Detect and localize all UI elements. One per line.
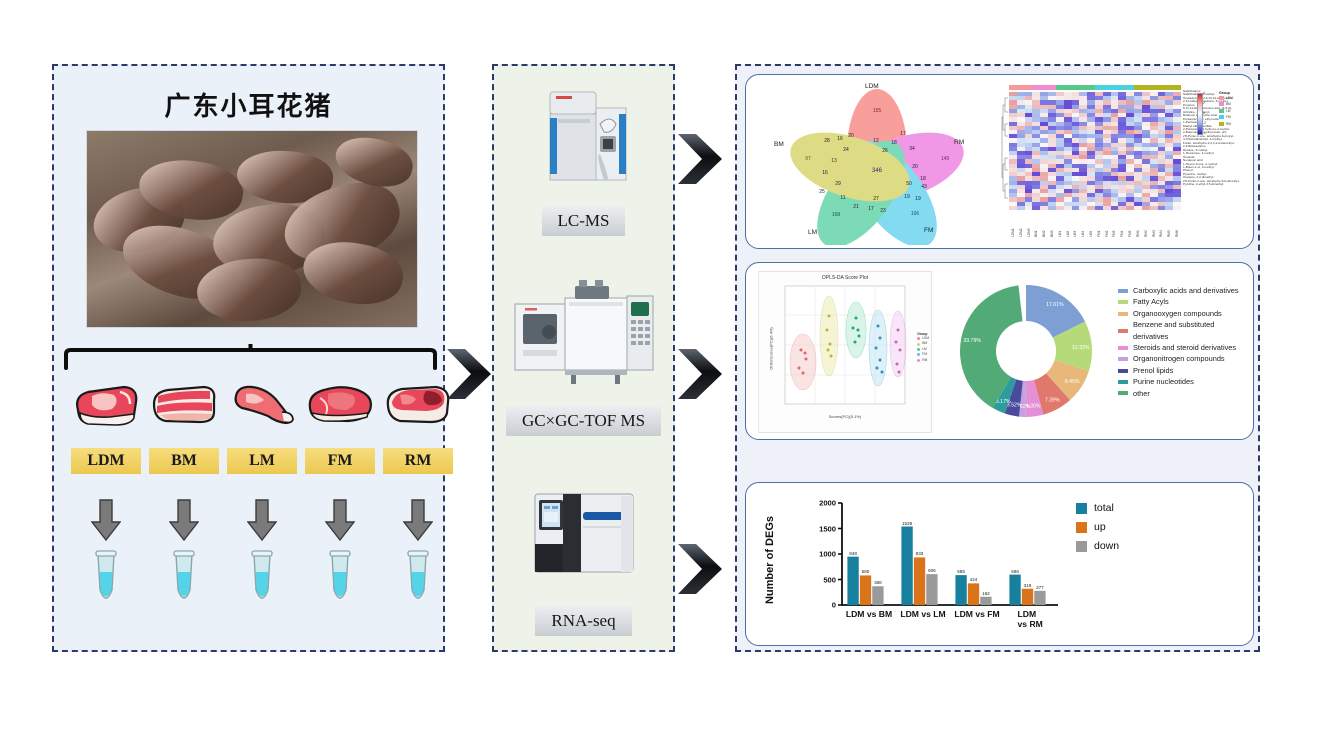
heatmap-column-label: RM1 xyxy=(1136,211,1140,237)
result-card-deg-bars: Number of DEGs 0500100015002000948580368… xyxy=(745,482,1254,646)
heatmap-cell xyxy=(1103,206,1111,210)
sample-label-lm: LM xyxy=(227,448,297,474)
sample-column-rm: RM xyxy=(379,382,457,610)
heatmap-legend-title: Group xyxy=(1219,91,1230,95)
venn-inner-count: 18 xyxy=(891,140,897,146)
heatmap-column-label: RM5 xyxy=(1167,211,1171,237)
venn-inner-count: 17 xyxy=(868,206,874,212)
flow-chevron-rnaseq-to-results xyxy=(672,540,730,598)
deg-bar-value: 1539 xyxy=(902,521,912,526)
flow-arrow-down-lm xyxy=(223,498,301,544)
venn-diagram: LDM RM FM LM BM 155 149 106 168 97 346 2… xyxy=(752,79,1002,245)
deg-bar-value: 933 xyxy=(916,551,924,556)
donut-legend-item: Organonitrogen compounds xyxy=(1118,353,1248,364)
rna-seq-sequencer-icon xyxy=(494,478,673,600)
heatmap-group-rm xyxy=(1134,85,1181,90)
deg-bar xyxy=(901,527,912,605)
deg-y-axis-label: Number of DEGs xyxy=(764,516,776,604)
heatmap-cell xyxy=(1064,206,1072,210)
meat-cut-leg-shank-icon xyxy=(223,382,301,442)
donut-legend-item: Benzene and substituted derivatives xyxy=(1118,319,1248,342)
instrument-label-lc-ms: LC-MS xyxy=(542,206,626,236)
heatmap-scale-tick: 2 xyxy=(1203,101,1205,105)
heatmap-cell xyxy=(1009,206,1017,210)
venn-inner-count: 23 xyxy=(880,208,886,214)
deg-bar-value: 596 xyxy=(1011,569,1019,574)
venn-inner-count: 19 xyxy=(915,196,921,202)
deg-legend: totalupdown xyxy=(1076,499,1119,556)
donut-legend-item: Prenol lipids xyxy=(1118,365,1248,376)
sample-tube-lm xyxy=(223,548,301,610)
sample-label-rm: RM xyxy=(383,448,453,474)
heatmap-scale-legend: 420-2-4GroupLDMBMLMFMRM xyxy=(1197,91,1249,141)
flow-chevron-lcms-to-results xyxy=(672,130,730,188)
heatmap-cell xyxy=(1032,206,1040,210)
venn-inner-count: 28 xyxy=(824,138,830,144)
heatmap-scale-tick: -2 xyxy=(1203,121,1206,125)
deg-bars-area: 0500100015002000948580368LDM vs BM153993… xyxy=(808,497,1058,623)
heatmap-column-label: FM5 xyxy=(1128,211,1132,237)
heatmap-column-label: FM4 xyxy=(1120,211,1124,237)
heatmap-column-label: BM2 xyxy=(1042,211,1046,237)
venn-label-fm: FM xyxy=(924,227,933,234)
heatmap-group-legend-item: LDM xyxy=(1219,96,1233,100)
opls-title: OPLS-DA Score Plot xyxy=(759,275,931,281)
sample-label-ldm: LDM xyxy=(71,448,141,474)
venn-label-rm: RM xyxy=(954,139,964,146)
page-title: 广东小耳花猪 xyxy=(54,86,443,123)
heatmap-group-lm xyxy=(1056,85,1095,90)
heatmap-column-label: LM5 xyxy=(1089,211,1093,237)
heatmap-cell xyxy=(1025,206,1033,210)
deg-legend-item: total xyxy=(1076,499,1119,518)
donut-legend-item: Carboxylic acids and derivatives xyxy=(1118,285,1248,296)
venn-inner-count: 12 xyxy=(873,138,879,144)
instrument-gcxgc-tof-ms: GC×GC-TOF MS xyxy=(494,278,673,436)
sample-bracket xyxy=(64,344,437,370)
heatmap-row-label: Pyridine, 2-ethyl-3,5-dimethyl- xyxy=(1183,183,1243,186)
heatmap: LDM1LDM2LDM3BM1BM2BM3LM1LM2LM3LM4LM5FM1F… xyxy=(1001,81,1251,243)
donut-slice-label: 17.61% xyxy=(1046,302,1064,308)
venn-inner-count: 43 xyxy=(921,184,927,190)
heatmap-column-label: FM2 xyxy=(1105,211,1109,237)
deg-bar xyxy=(860,575,871,605)
opls-legend-item: RM xyxy=(917,358,929,363)
heatmap-column-labels: LDM1LDM2LDM3BM1BM2BM3LM1LM2LM3LM4LM5FM1F… xyxy=(1009,211,1181,237)
flow-arrow-down-fm xyxy=(301,498,379,544)
heatmap-scale-tick: 4 xyxy=(1203,91,1205,95)
venn-inner-count: 20 xyxy=(848,133,854,139)
venn-count-ldm: 155 xyxy=(873,108,881,114)
deg-y-tick: 2000 xyxy=(808,499,836,508)
heatmap-cell xyxy=(1150,206,1158,210)
venn-label-lm: LM xyxy=(808,229,817,236)
flow-arrow-down-ldm xyxy=(67,498,145,544)
heatmap-cell xyxy=(1087,206,1095,210)
opls-x-axis-label: Scores(PC)(5.1%) xyxy=(759,414,931,419)
venn-count-bm: 97 xyxy=(805,156,811,162)
venn-inner-count: 21 xyxy=(853,204,859,210)
venn-inner-count: 20 xyxy=(912,164,918,170)
meat-cut-foreleg-steak-icon xyxy=(301,382,379,442)
heatmap-cell xyxy=(1017,206,1025,210)
donut-slice-label: 12.32% xyxy=(1072,345,1090,351)
deg-bar xyxy=(1022,589,1033,605)
deg-bar xyxy=(872,586,883,605)
venn-label-bm: BM xyxy=(774,141,784,148)
meat-cut-loin-block-icon xyxy=(67,382,145,442)
deg-bar xyxy=(914,557,925,605)
heatmap-column-label: LM4 xyxy=(1081,211,1085,237)
venn-inner-count: 25 xyxy=(819,189,825,195)
results-panel: LDM RM FM LM BM 155 149 106 168 97 346 2… xyxy=(735,64,1260,652)
donut-legend-item: Organooxygen compounds xyxy=(1118,308,1248,319)
heatmap-scale-tick: -4 xyxy=(1203,131,1206,135)
venn-count-center: 346 xyxy=(872,168,882,174)
deg-bar xyxy=(926,574,937,605)
deg-bar xyxy=(847,557,858,605)
heatmap-column-label: BM3 xyxy=(1050,211,1054,237)
donut-legend-item: other xyxy=(1118,388,1248,399)
heatmap-cell xyxy=(1173,206,1181,210)
deg-category-label: LDM vs FM xyxy=(954,609,999,619)
heatmap-cell xyxy=(1056,206,1064,210)
heatmap-column-label: FM3 xyxy=(1112,211,1116,237)
lc-ms-instrument-icon xyxy=(494,78,673,200)
heatmap-column-label: LDM2 xyxy=(1019,211,1023,237)
venn-inner-count: 34 xyxy=(909,146,915,152)
deg-bar-value: 580 xyxy=(862,569,870,574)
deg-y-tick: 1500 xyxy=(808,524,836,533)
flow-arrow-down-rm xyxy=(379,498,457,544)
pig-herd-photo xyxy=(86,130,418,328)
deg-bar-value: 606 xyxy=(928,568,936,573)
heatmap-dendrogram xyxy=(1001,92,1009,210)
heatmap-cells xyxy=(1009,92,1181,210)
deg-bar xyxy=(1034,591,1045,605)
donut-chart: 17.61%12.32%8.45%7.39%4.30%1.62%3.52%3.1… xyxy=(944,269,1109,433)
heatmap-cell xyxy=(1072,206,1080,210)
venn-count-rm: 149 xyxy=(941,156,949,162)
deg-bar-value: 277 xyxy=(1036,585,1044,590)
venn-shapes xyxy=(752,79,1002,245)
deg-bar xyxy=(968,583,979,605)
deg-y-tick: 500 xyxy=(808,575,836,584)
opls-legend: GroupLDMBMLMFMRM xyxy=(917,332,929,363)
venn-inner-count: 27 xyxy=(873,196,879,202)
donut-slice-label: 8.45% xyxy=(1065,379,1080,385)
instrument-lc-ms: LC-MS xyxy=(494,78,673,236)
heatmap-group-legend-item: RM xyxy=(1219,122,1231,126)
sample-tube-ldm xyxy=(67,548,145,610)
instrument-label-gcxgc-tof-ms: GC×GC-TOF MS xyxy=(506,406,661,436)
deg-bar-value: 368 xyxy=(874,580,882,585)
heatmap-column-label: RM4 xyxy=(1159,211,1163,237)
heatmap-group-fm xyxy=(1095,85,1134,90)
sample-tube-bm xyxy=(145,548,223,610)
sample-column-lm: LM xyxy=(223,382,301,610)
deg-bar-chart: Number of DEGs 0500100015002000948580368… xyxy=(746,483,1255,647)
flow-chevron-gcxgc-to-results xyxy=(672,345,730,403)
heatmap-cell xyxy=(1118,206,1126,210)
heatmap-group-legend-item: LM xyxy=(1219,109,1230,113)
venn-inner-count: 16 xyxy=(837,136,843,142)
venn-inner-count: 18 xyxy=(920,176,926,182)
donut-slice-label: 3.17% xyxy=(996,399,1011,405)
deg-bar-value: 586 xyxy=(957,569,965,574)
heatmap-cell xyxy=(1126,206,1134,210)
heatmap-group-legend-item: FM xyxy=(1219,115,1231,119)
sample-column-fm: FM xyxy=(301,382,379,610)
opls-canvas xyxy=(759,272,931,432)
heatmap-column-label: BM1 xyxy=(1034,211,1038,237)
heatmap-column-label: RM2 xyxy=(1144,211,1148,237)
flow-chevron-left-to-middle xyxy=(441,345,499,403)
venn-count-lm: 168 xyxy=(832,212,840,218)
deg-category-label: LDM vs LM xyxy=(900,609,945,619)
sample-tube-fm xyxy=(301,548,379,610)
heatmap-cell xyxy=(1158,206,1166,210)
deg-y-tick: 1000 xyxy=(808,550,836,559)
deg-bar xyxy=(980,597,991,605)
opls-y-axis-label: OrthoScores(PC)(6.4%) xyxy=(769,309,774,389)
heatmap-cell xyxy=(1111,206,1119,210)
venn-inner-count: 17 xyxy=(900,131,906,137)
heatmap-group-legend-item: BM xyxy=(1219,102,1231,106)
flow-arrow-down-bm xyxy=(145,498,223,544)
venn-inner-count: 50 xyxy=(906,181,912,187)
heatmap-cell xyxy=(1040,206,1048,210)
deg-legend-item: down xyxy=(1076,537,1119,556)
venn-label-ldm: LDM xyxy=(865,83,879,90)
donut-canvas: 17.61%12.32%8.45%7.39%4.30%1.62%3.52%3.1… xyxy=(944,269,1109,433)
result-card-venn-heatmap: LDM RM FM LM BM 155 149 106 168 97 346 2… xyxy=(745,74,1254,249)
deg-legend-item: up xyxy=(1076,518,1119,537)
deg-bar-value: 319 xyxy=(1024,583,1032,588)
deg-category-label: LDM vs BM xyxy=(846,609,892,619)
heatmap-cell xyxy=(1134,206,1142,210)
venn-inner-count: 24 xyxy=(843,147,849,153)
sample-tube-rm xyxy=(379,548,457,610)
instrument-panel: LC-MS xyxy=(492,64,675,652)
opls-da-plot: OPLS-DA Score Plot xyxy=(758,271,932,433)
heatmap-cell xyxy=(1095,206,1103,210)
donut-legend: Carboxylic acids and derivativesFatty Ac… xyxy=(1118,285,1248,399)
venn-inner-count: 19 xyxy=(904,194,910,200)
gcxgc-tof-ms-instrument-icon xyxy=(494,278,673,400)
heatmap-column-label: LDM1 xyxy=(1011,211,1015,237)
heatmap-column-label: LM3 xyxy=(1073,211,1077,237)
heatmap-column-label: FM1 xyxy=(1097,211,1101,237)
heatmap-column-label: LM2 xyxy=(1066,211,1070,237)
instrument-label-rna-seq: RNA-seq xyxy=(535,606,631,636)
heatmap-column-label: RM3 xyxy=(1152,211,1156,237)
venn-inner-count: 13 xyxy=(831,158,837,164)
donut-legend-item: Purine nucleotides xyxy=(1118,376,1248,387)
sample-label-fm: FM xyxy=(305,448,375,474)
donut-slice-label: 39.79% xyxy=(963,338,981,344)
meat-cut-belly-streaky-icon xyxy=(145,382,223,442)
deg-bar xyxy=(955,575,966,605)
heatmap-cell xyxy=(1165,206,1173,210)
sample-column-bm: BM xyxy=(145,382,223,610)
heatmap-cell xyxy=(1048,206,1056,210)
sample-column-ldm: LDM xyxy=(67,382,145,610)
heatmap-scale-tick: 0 xyxy=(1203,111,1205,115)
animal-sampling-panel: 广东小耳花猪 LDM xyxy=(52,64,445,652)
heatmap-column-label: LM1 xyxy=(1058,211,1062,237)
venn-inner-count: 26 xyxy=(882,148,888,154)
venn-inner-count: 29 xyxy=(835,181,841,187)
heatmap-column-label: LDM3 xyxy=(1027,211,1031,237)
deg-category-label: LDM vs RM xyxy=(1018,609,1045,629)
deg-bar xyxy=(1009,575,1020,605)
venn-inner-count: 16 xyxy=(822,170,828,176)
venn-inner-count: 11 xyxy=(840,195,845,201)
heatmap-column-label: RM6 xyxy=(1175,211,1179,237)
deg-bar-canvas xyxy=(808,497,1058,623)
heatmap-cell xyxy=(1142,206,1150,210)
donut-legend-item: Fatty Acyls xyxy=(1118,296,1248,307)
heatmap-cell xyxy=(1079,206,1087,210)
donut-slice-label: 7.39% xyxy=(1045,397,1060,403)
deg-y-tick: 0 xyxy=(808,601,836,610)
venn-count-fm: 106 xyxy=(911,211,919,217)
heatmap-group-bm xyxy=(1032,85,1055,90)
heatmap-group-ldm xyxy=(1009,85,1032,90)
deg-bar-value: 424 xyxy=(970,577,978,582)
sample-label-bm: BM xyxy=(149,448,219,474)
instrument-rna-seq: RNA-seq xyxy=(494,478,673,636)
deg-bar-value: 948 xyxy=(849,551,857,556)
deg-bar-value: 162 xyxy=(982,591,990,596)
donut-legend-item: Steroids and steroid derivatives xyxy=(1118,342,1248,353)
heatmap-group-colorbar xyxy=(1009,85,1181,90)
result-card-opls-pie: OPLS-DA Score Plot xyxy=(745,262,1254,440)
